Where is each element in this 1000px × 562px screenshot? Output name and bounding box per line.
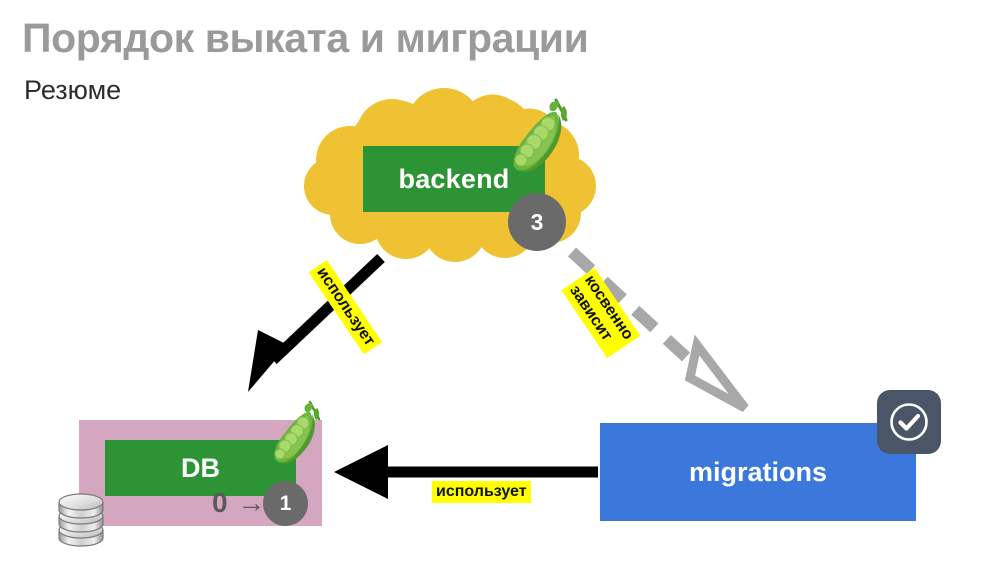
node-backend-label: backend [399,164,510,195]
slide-canvas: Порядок выката и миграции Резюме [0,0,1000,562]
check-circle-icon [886,399,932,445]
node-db[interactable]: DB [105,440,296,496]
node-db-label: DB [181,453,220,484]
node-migrations-label: migrations [689,457,827,488]
backend-version-badge: 3 [508,193,566,251]
database-cylinder-icon [55,486,107,548]
db-version-badge: 1 [263,481,308,526]
db-migration-from-label: 0 → [212,487,266,519]
edge-label-migrations-to-db: использует [432,481,531,503]
migrations-status-badge [877,390,941,454]
node-migrations[interactable]: migrations [600,423,916,521]
